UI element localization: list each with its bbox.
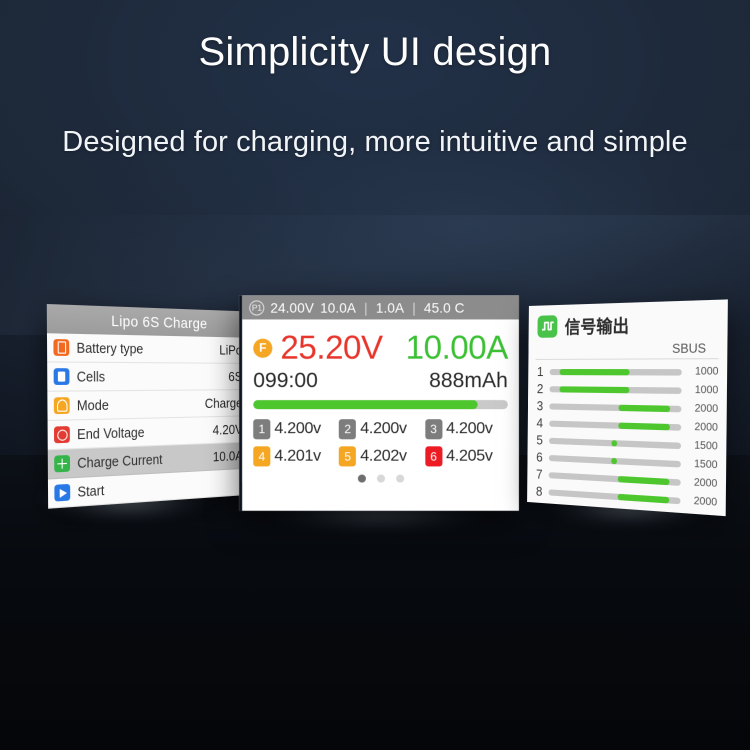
page-dot[interactable] [377,475,385,483]
status-badge: F [253,338,272,357]
page-dot[interactable] [396,475,404,483]
center-page-indicator[interactable] [253,475,508,483]
settings-row-battery-type[interactable]: Battery type LiPo › [47,333,262,364]
primary-readouts: F 25.20V 10.00A [253,329,508,367]
cells-icon [54,368,70,385]
channel-value: 1000 [687,366,719,378]
center-screen-charging-status: P1 24.00V 10.0A | 1.0A | 45.0 C F 25.20V… [239,295,519,510]
channel-value: 2000 [686,495,718,509]
channel-slider[interactable] [549,489,681,504]
channel-number: 6 [535,449,545,465]
channel-number: 4 [535,415,545,430]
cell-voltage-value: 4.200v [274,420,321,438]
battery-icon [53,339,69,356]
cell-item: 4 4.201v [253,446,336,466]
channel-slider-fill [611,457,616,464]
right-screen-header: 信号输出 [529,299,728,343]
channel-slider[interactable] [550,386,682,394]
right-screen-signal-output: 信号输出 SBUS 1 1000 2 1000 3 2000 4 20 [527,299,728,516]
header-voltage: 24.00V [270,300,314,315]
channel-slider-fill [560,369,630,375]
channel-value: 2000 [686,421,718,434]
channel-number: 1 [535,364,545,379]
cell-index-badge: 4 [253,446,270,466]
port-badge: P1 [249,300,264,315]
channel-slider[interactable] [549,437,681,448]
channel-slider[interactable] [549,454,681,467]
settings-label: End Voltage [77,423,213,442]
header-temperature: 45.0 C [424,300,465,315]
cell-voltage-value: 4.205v [446,447,493,465]
channel-number: 7 [534,466,544,482]
channel-number: 5 [535,432,545,447]
charge-progress-fill [253,400,477,409]
current-icon [54,455,70,472]
channel-slider[interactable] [549,472,681,486]
cell-voltage-value: 4.201v [274,447,321,465]
settings-row-cells[interactable]: Cells 6S › [47,363,262,392]
channel-value: 1500 [686,440,718,453]
cell-index-badge: 1 [253,419,270,439]
channel-slider[interactable] [549,420,681,430]
mode-icon [54,397,70,414]
channel-slider[interactable] [549,403,681,412]
square-wave-icon [537,315,557,338]
channel-number: 3 [535,398,545,413]
secondary-readouts: 099:00 888mAh [253,369,508,393]
channel-value: 2000 [687,403,719,416]
channel-list: 1 1000 2 1000 3 2000 4 2000 5 [527,359,727,513]
settings-list: Battery type LiPo › Cells 6S › Mode Char… [47,333,263,509]
header-separator: | [362,300,370,315]
cell-index-badge: 3 [425,419,442,439]
cell-item: 2 4.200v [339,419,422,439]
settings-label: Charge Current [77,450,213,471]
cell-item: 3 4.200v [425,419,508,439]
device-screens-stage: Lipo 6S Charge Battery type LiPo › Cells… [0,0,750,750]
channel-slider-fill [618,493,670,503]
signal-output-title: 信号输出 [565,311,630,338]
settings-label: Cells [77,369,229,385]
channel-row[interactable]: 1 1000 [535,363,718,382]
page-dot[interactable] [357,475,365,483]
cell-item: 1 4.200v [253,419,336,439]
channel-slider-fill [618,475,670,484]
settings-value: Charge [205,395,243,411]
left-screen-charge-settings: Lipo 6S Charge Battery type LiPo › Cells… [47,304,263,509]
cell-index-badge: 2 [339,419,356,439]
elapsed-time: 099:00 [253,369,318,393]
channel-slider-fill [618,422,670,430]
page-dot[interactable] [618,512,625,517]
channel-slider[interactable] [550,369,682,376]
page-dot[interactable] [602,510,609,516]
header-discharge-current: 1.0A [376,300,404,315]
left-screen-header: Lipo 6S Charge [47,304,262,338]
start-icon [54,484,70,502]
cell-voltage-grid: 1 4.200v 2 4.200v 3 4.200v 4 4.201v 5 [253,419,508,466]
cell-voltage-value: 4.202v [360,447,407,465]
charge-progress-bar [253,400,508,409]
center-screen-body: F 25.20V 10.00A 099:00 888mAh 1 4.200v 2… [242,320,519,483]
cell-index-badge: 6 [425,446,442,466]
current-readout: 10.00A [406,329,508,367]
channel-number: 2 [535,381,545,396]
cell-item: 6 4.205v [425,446,508,466]
cell-voltage-value: 4.200v [446,420,493,438]
settings-label: Start [77,475,242,500]
cell-index-badge: 5 [339,446,356,466]
channel-number: 8 [534,483,544,499]
page-dot[interactable] [634,513,641,516]
settings-value: 4.20V [213,422,243,438]
voltage-icon [54,426,70,443]
channel-slider-fill [559,386,629,393]
capacity-readout: 888mAh [429,369,508,393]
voltage-readout: 25.20V [280,329,382,367]
center-screen-header: P1 24.00V 10.0A | 1.0A | 45.0 C [242,295,519,319]
cell-item: 5 4.202v [339,446,422,466]
header-separator: | [410,300,418,315]
channel-slider-fill [611,440,616,446]
channel-value: 1500 [686,458,718,472]
channel-value: 2000 [686,476,718,490]
settings-label: Mode [77,396,205,413]
protocol-label: SBUS [535,340,718,359]
cell-voltage-value: 4.200v [360,420,407,438]
channel-slider-fill [618,404,670,411]
channel-value: 1000 [687,384,719,396]
header-current: 10.0A [320,300,356,315]
settings-label: Battery type [76,340,219,357]
